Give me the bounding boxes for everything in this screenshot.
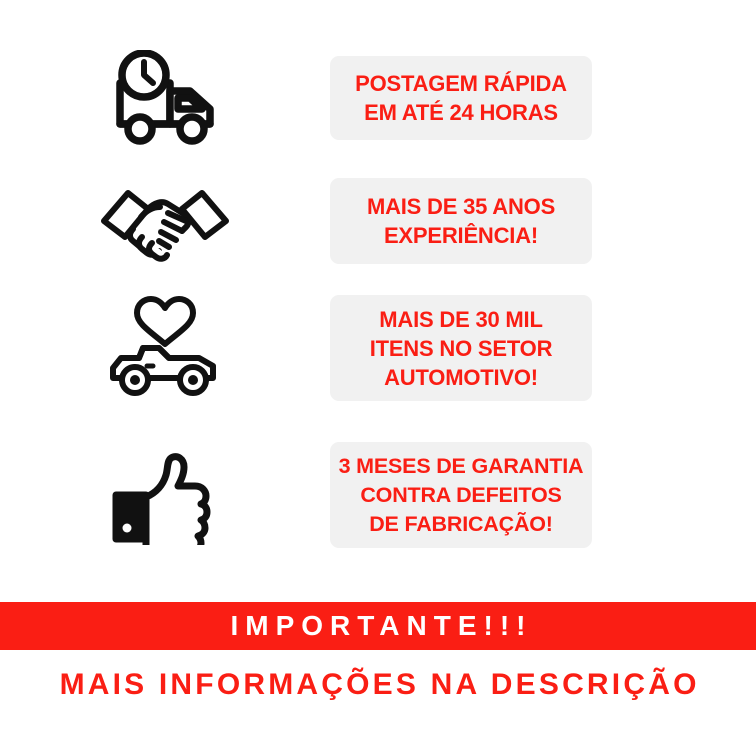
feature-row-experience: MAIS DE 35 ANOS EXPERIÊNCIA! <box>0 163 756 278</box>
feature-row-warranty: 3 MESES DE GARANTIA CONTRA DEFEITOS DE F… <box>0 430 756 560</box>
feature-line: CONTRA DEFEITOS <box>360 481 561 510</box>
description-cta: MAIS INFORMAÇÕES NA DESCRIÇÃO <box>0 660 756 710</box>
delivery-truck-clock-icon <box>0 50 330 146</box>
important-strip-text: IMPORTANTE!!! <box>224 612 533 640</box>
description-cta-text: MAIS INFORMAÇÕES NA DESCRIÇÃO <box>56 668 699 702</box>
promo-banner: POSTAGEM RÁPIDA EM ATÉ 24 HORAS <box>0 0 756 756</box>
feature-text-experience: MAIS DE 35 ANOS EXPERIÊNCIA! <box>330 178 592 264</box>
feature-line: EXPERIÊNCIA! <box>384 221 538 250</box>
important-strip: IMPORTANTE!!! <box>0 602 756 650</box>
feature-text-catalog: MAIS DE 30 MIL ITENS NO SETOR AUTOMOTIVO… <box>330 295 592 401</box>
car-heart-icon <box>0 296 330 400</box>
handshake-icon <box>0 179 330 263</box>
feature-line: EM ATÉ 24 HORAS <box>364 98 558 127</box>
feature-text-warranty: 3 MESES DE GARANTIA CONTRA DEFEITOS DE F… <box>330 442 592 548</box>
feature-row-catalog: MAIS DE 30 MIL ITENS NO SETOR AUTOMOTIVO… <box>0 283 756 413</box>
feature-line: AUTOMOTIVO! <box>384 363 538 392</box>
feature-line: MAIS DE 35 ANOS <box>367 192 555 221</box>
feature-row-shipping: POSTAGEM RÁPIDA EM ATÉ 24 HORAS <box>0 40 756 155</box>
thumbs-up-icon <box>0 445 330 545</box>
feature-line: DE FABRICAÇÃO! <box>369 510 553 539</box>
feature-line: 3 MESES DE GARANTIA <box>339 452 584 481</box>
feature-line: POSTAGEM RÁPIDA <box>355 69 567 98</box>
feature-text-shipping: POSTAGEM RÁPIDA EM ATÉ 24 HORAS <box>330 56 592 140</box>
feature-line: MAIS DE 30 MIL <box>379 305 542 334</box>
feature-line: ITENS NO SETOR <box>370 334 553 363</box>
